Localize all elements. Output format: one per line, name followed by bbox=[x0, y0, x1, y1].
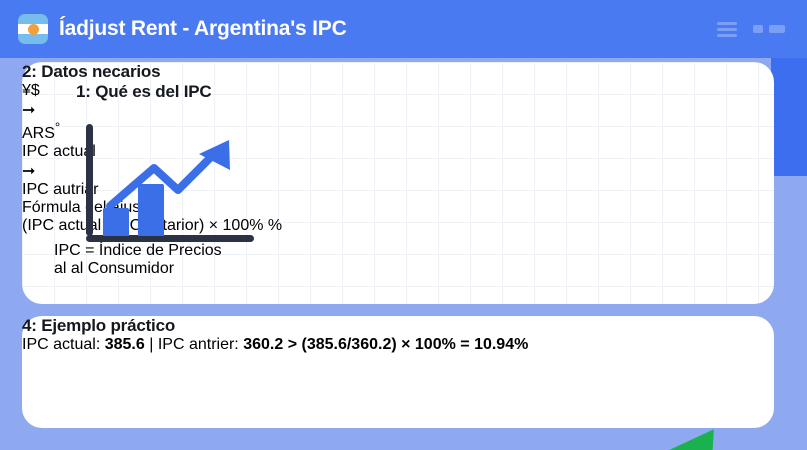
badge-lhs: IPC = bbox=[54, 242, 94, 259]
section2-title: 2: Datos necarios bbox=[22, 62, 774, 82]
example-separator: | bbox=[149, 336, 153, 353]
hamburger-line bbox=[717, 22, 737, 25]
flag-sun-icon bbox=[28, 24, 39, 35]
hamburger-menu-icon[interactable] bbox=[717, 22, 737, 37]
growth-arrow-icon bbox=[22, 354, 774, 450]
app-header: Íadjust Rent - Argentina's IPC bbox=[0, 0, 807, 58]
badge-rhs-line2: al al Consumidor bbox=[54, 260, 174, 277]
example-card: 4: Ejemplo práctico IPC actual: 385.6 | … bbox=[22, 316, 774, 428]
example-label-actual: IPC actual: bbox=[22, 336, 100, 353]
example-result: > (385.6/360.2) × 100% = 10.94% bbox=[288, 336, 529, 353]
calculator-growth-arrow-icon bbox=[22, 354, 774, 450]
badge-rhs-line1: Índice de Precios bbox=[99, 242, 222, 259]
header-block-small bbox=[753, 25, 763, 33]
example-calculation: IPC actual: 385.6 | IPC antrier: 360.2 >… bbox=[22, 336, 774, 354]
chart-bar bbox=[103, 208, 129, 236]
hamburger-line bbox=[717, 34, 737, 37]
ipc-definition-badge: IPC = Índice de Precios al al Consumidor bbox=[54, 242, 294, 278]
header-block-large bbox=[769, 25, 785, 33]
section-what-is-ipc: 1: Qué es del IPC IPC = Índice de Precio… bbox=[54, 82, 294, 278]
argentina-flag-icon bbox=[18, 14, 48, 44]
chart-y-axis bbox=[86, 124, 93, 236]
hamburger-line bbox=[717, 28, 737, 31]
main-content-card: 1: Qué es del IPC IPC = Índice de Precio… bbox=[22, 62, 774, 304]
section-practical-example: 4: Ejemplo práctico IPC actual: 385.6 | … bbox=[22, 316, 774, 354]
section1-title: 1: Qué es del IPC bbox=[76, 82, 294, 102]
example-value-actual: 385.6 bbox=[105, 336, 145, 353]
ipc-bar-chart bbox=[86, 124, 271, 242]
header-actions bbox=[717, 22, 785, 37]
example-value-previous: 360.2 bbox=[243, 336, 283, 353]
header-decor-blocks bbox=[753, 25, 785, 33]
page-title: Íadjust Rent - Argentina's IPC bbox=[59, 17, 347, 41]
section4-title: 4: Ejemplo práctico bbox=[22, 316, 774, 336]
example-label-previous: IPC antrier: bbox=[158, 336, 239, 353]
chart-bar bbox=[138, 184, 164, 236]
chart-x-axis bbox=[86, 235, 254, 242]
